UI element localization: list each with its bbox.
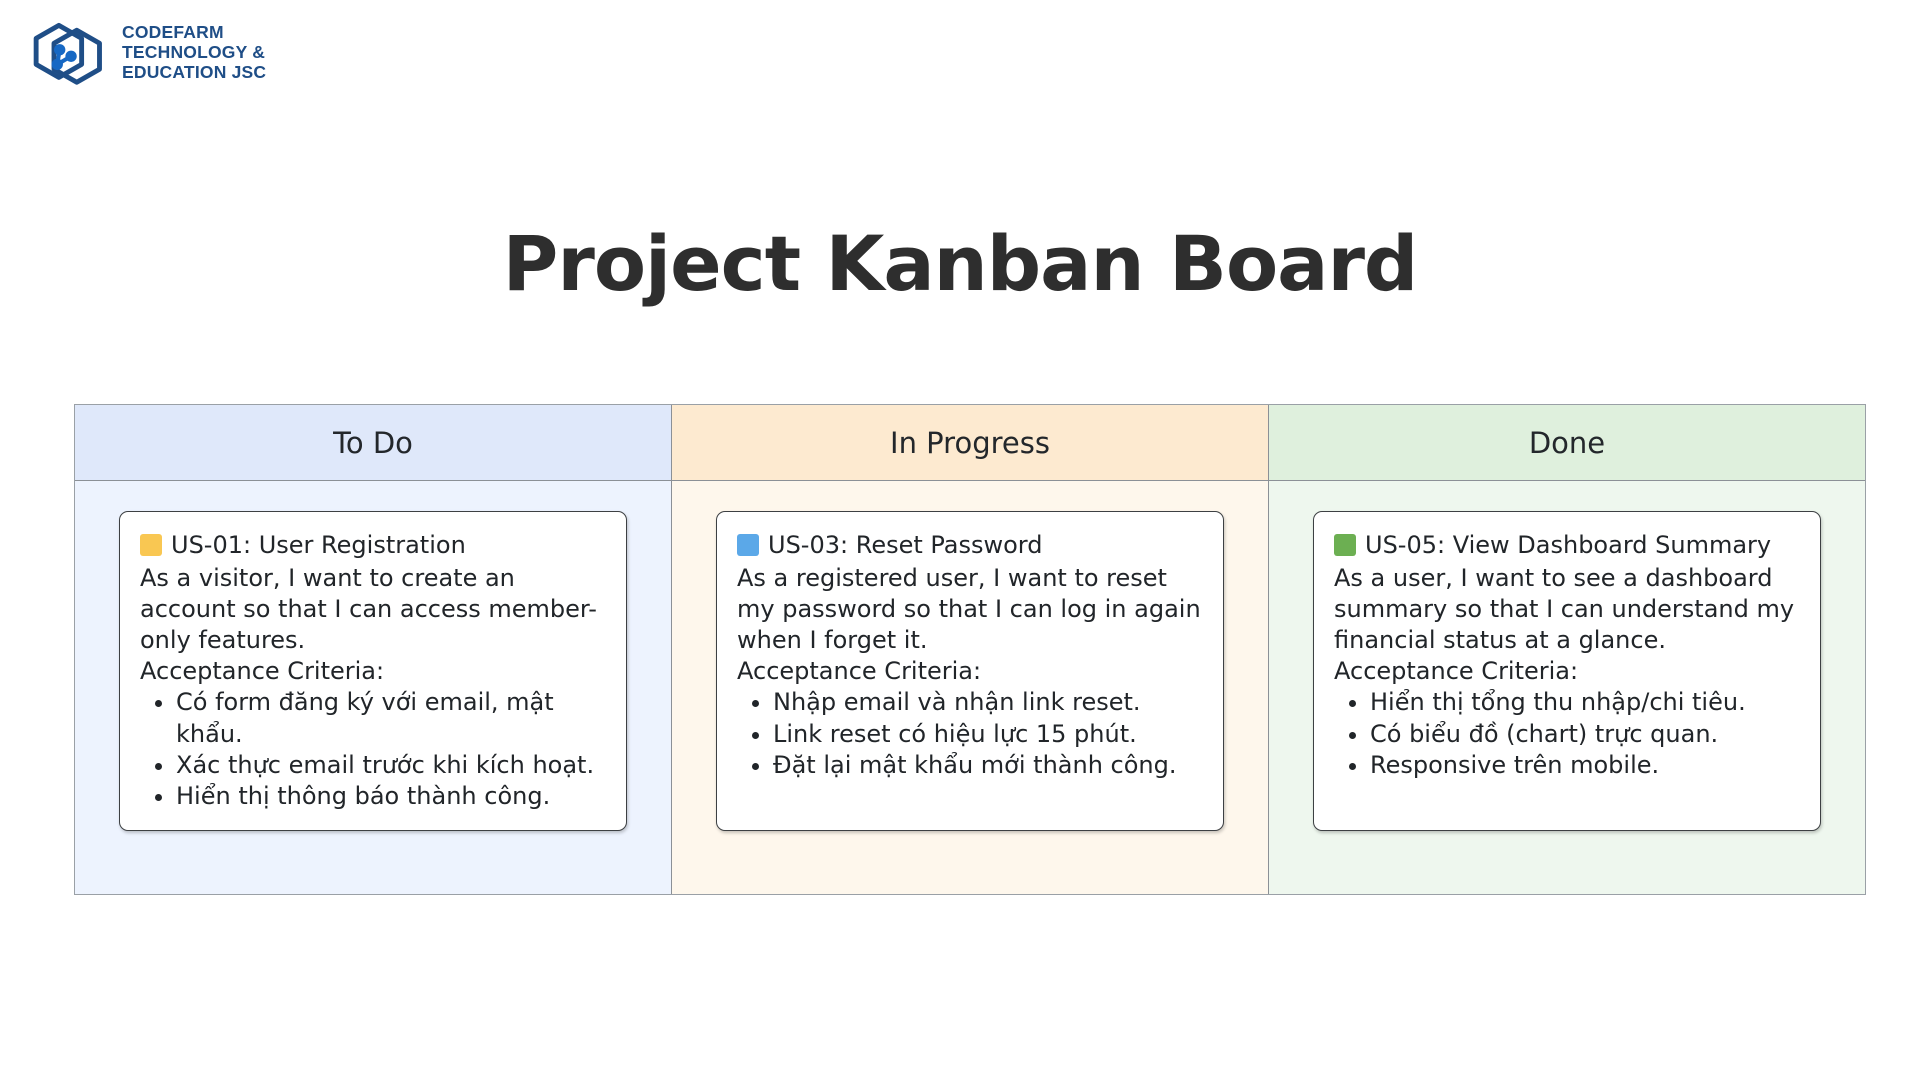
card-title-row: US-01: User Registration [140, 530, 606, 561]
brand-line-2: TECHNOLOGY & [122, 43, 266, 63]
status-swatch-icon [737, 534, 759, 556]
criteria-item: Có biểu đồ (chart) trực quan. [1370, 719, 1800, 750]
card-description: As a registered user, I want to reset my… [737, 563, 1203, 657]
card-description: As a visitor, I want to create an accoun… [140, 563, 606, 657]
brand-text: CODEFARM TECHNOLOGY & EDUCATION JSC [122, 23, 266, 82]
card-criteria-list: Có form đăng ký với email, mật khẩu.Xác … [140, 687, 606, 812]
card-criteria-label: Acceptance Criteria: [737, 656, 1203, 687]
brand-logo: CODEFARM TECHNOLOGY & EDUCATION JSC [26, 14, 266, 92]
status-swatch-icon [140, 534, 162, 556]
column-body-todo: US-01: User Registration As a visitor, I… [75, 481, 671, 894]
kanban-column-done: Done US-05: View Dashboard Summary As a … [1269, 405, 1865, 894]
kanban-board: To Do US-01: User Registration As a visi… [74, 404, 1866, 895]
card-criteria-list: Hiển thị tổng thu nhập/chi tiêu.Có biểu … [1334, 687, 1800, 781]
criteria-item: Responsive trên mobile. [1370, 750, 1800, 781]
card-title: US-03: Reset Password [768, 530, 1043, 561]
criteria-item: Link reset có hiệu lực 15 phút. [773, 719, 1203, 750]
card-criteria-label: Acceptance Criteria: [1334, 656, 1800, 687]
card-title-row: US-03: Reset Password [737, 530, 1203, 561]
column-header-done: Done [1269, 405, 1865, 481]
column-body-done: US-05: View Dashboard Summary As a user,… [1269, 481, 1865, 894]
criteria-item: Có form đăng ký với email, mật khẩu. [176, 687, 606, 749]
kanban-card-us-01[interactable]: US-01: User Registration As a visitor, I… [119, 511, 627, 831]
card-title-row: US-05: View Dashboard Summary [1334, 530, 1800, 561]
criteria-item: Xác thực email trước khi kích hoạt. [176, 750, 606, 781]
card-criteria-list: Nhập email và nhận link reset.Link reset… [737, 687, 1203, 781]
status-swatch-icon [1334, 534, 1356, 556]
brand-line-1: CODEFARM [122, 23, 266, 43]
criteria-item: Đặt lại mật khẩu mới thành công. [773, 750, 1203, 781]
kanban-card-us-05[interactable]: US-05: View Dashboard Summary As a user,… [1313, 511, 1821, 831]
card-title: US-05: View Dashboard Summary [1365, 530, 1771, 561]
card-criteria-label: Acceptance Criteria: [140, 656, 606, 687]
card-description: As a user, I want to see a dashboard sum… [1334, 563, 1800, 657]
column-header-todo: To Do [75, 405, 671, 481]
kanban-column-in-progress: In Progress US-03: Reset Password As a r… [672, 405, 1269, 894]
criteria-item: Nhập email và nhận link reset. [773, 687, 1203, 718]
hexagon-network-logo-icon [26, 14, 108, 92]
kanban-column-todo: To Do US-01: User Registration As a visi… [75, 405, 672, 894]
kanban-card-us-03[interactable]: US-03: Reset Password As a registered us… [716, 511, 1224, 831]
column-header-in-progress: In Progress [672, 405, 1268, 481]
kanban-page: CODEFARM TECHNOLOGY & EDUCATION JSC Proj… [0, 0, 1920, 1080]
criteria-item: Hiển thị thông báo thành công. [176, 781, 606, 812]
card-title: US-01: User Registration [171, 530, 466, 561]
brand-line-3: EDUCATION JSC [122, 63, 266, 83]
column-body-in-progress: US-03: Reset Password As a registered us… [672, 481, 1268, 894]
page-title: Project Kanban Board [0, 219, 1920, 308]
criteria-item: Hiển thị tổng thu nhập/chi tiêu. [1370, 687, 1800, 718]
